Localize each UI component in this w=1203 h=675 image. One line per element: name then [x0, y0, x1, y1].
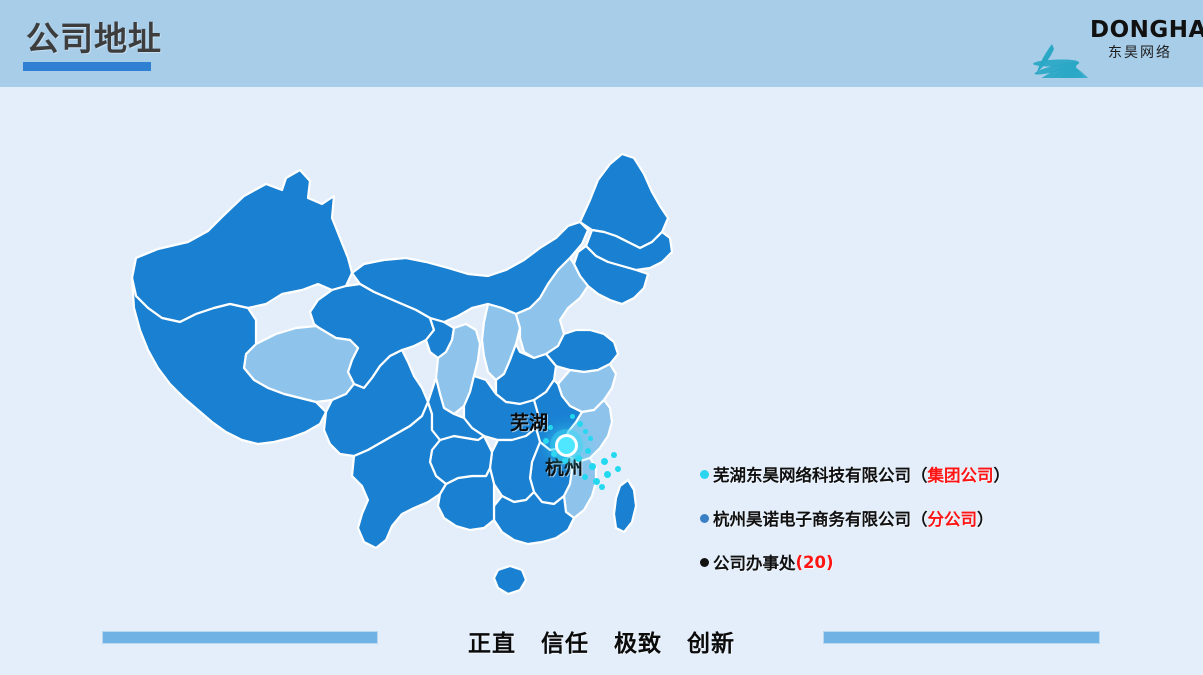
fan-wing-icon [1018, 8, 1090, 78]
logo-name: DONGHAO [1090, 17, 1190, 43]
city-label-wuhu: 芜湖 [510, 408, 548, 435]
footer-slogan: 正直 信任 极致 创新 [0, 624, 1203, 658]
legend-bullet-icon [700, 558, 709, 567]
legend-paren-open: （ [911, 506, 928, 530]
office-dot [575, 455, 582, 462]
legend-label: 芜湖东昊网络科技有限公司 [713, 462, 911, 486]
page-title: 公司地址 [26, 19, 162, 59]
headquarters-marker-wuhu [555, 434, 578, 457]
legend-highlight: 分公司 [928, 506, 978, 530]
office-dot [582, 474, 588, 480]
legend-item-branch-company: 杭州昊诺电子商务有限公司 （ 分公司 ） [700, 506, 1130, 530]
office-dot [588, 436, 593, 441]
office-dot [611, 452, 617, 458]
office-dot [577, 421, 583, 427]
legend-label: 公司办事处 [713, 550, 796, 574]
slide-canvas: 公司地址 [0, 0, 1203, 675]
logo-subtitle: 东昊网络 [1090, 43, 1190, 63]
legend-paren-close: ） [994, 462, 1011, 486]
office-dot [583, 429, 588, 434]
office-dot [543, 438, 549, 444]
province-guizhou [430, 436, 492, 484]
slogan-part-4: 创新 [687, 631, 735, 657]
office-dot [589, 463, 596, 470]
slogan-part-1: 正直 [468, 631, 516, 657]
title-underline-bar [23, 62, 151, 71]
legend-bullet-icon [700, 514, 709, 523]
legend-paren-open: （ [911, 462, 928, 486]
office-dot [570, 414, 575, 419]
province-taiwan [614, 480, 636, 532]
slide-header: 公司地址 [0, 0, 1203, 87]
office-dot [548, 425, 553, 430]
office-dot [585, 448, 591, 454]
slogan-part-3: 极致 [614, 631, 662, 657]
logo-text-block: DONGHAO 东昊网络 [1090, 17, 1190, 63]
office-dot [601, 458, 608, 465]
legend-highlight: (20) [796, 553, 834, 572]
legend-label: 杭州昊诺电子商务有限公司 [713, 506, 911, 530]
legend-paren-close: ） [977, 506, 994, 530]
china-map-container: 芜湖 杭州 [96, 118, 696, 618]
province-guangdong [494, 492, 574, 544]
office-dot [615, 466, 621, 472]
legend-highlight: 集团公司 [928, 462, 994, 486]
office-dot [604, 471, 611, 478]
china-map-graphic [96, 118, 696, 618]
company-logo: DONGHAO 东昊网络 [1018, 8, 1188, 78]
slogan-part-2: 信任 [541, 631, 589, 657]
province-hunan [490, 428, 540, 502]
legend-item-group-company: 芜湖东昊网络科技有限公司 （ 集团公司 ） [700, 462, 1130, 486]
legend-bullet-icon [700, 470, 709, 479]
legend: 芜湖东昊网络科技有限公司 （ 集团公司 ） 杭州昊诺电子商务有限公司 （ 分公司… [700, 462, 1130, 594]
office-dot [599, 484, 605, 490]
province-hainan [494, 566, 526, 594]
legend-item-offices: 公司办事处 (20) [700, 550, 1130, 574]
office-dot [562, 458, 568, 464]
